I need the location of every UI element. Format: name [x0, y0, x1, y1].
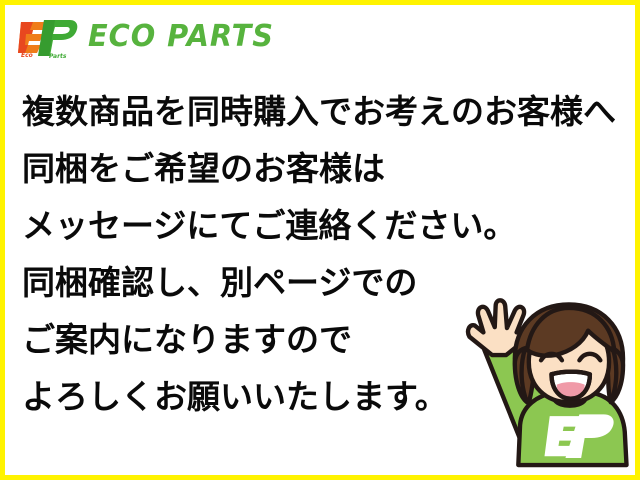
brand-header: Eco Parts ECO PARTS [18, 13, 282, 61]
logo-subtext-parts: Parts [49, 53, 67, 59]
eco-parts-notice-banner: Eco Parts ECO PARTS 複数商品を同時購入でお考えのお客様へ 同… [0, 0, 640, 480]
ep-monogram-logo-icon: Eco Parts [18, 15, 80, 59]
brand-wordmark: ECO PARTS [88, 22, 274, 52]
message-line: メッセージにてご連絡ください。 [22, 197, 622, 254]
waving-girl-illustration-icon [457, 294, 632, 472]
message-line: 複数商品を同時購入でお考えのお客様へ [22, 83, 622, 140]
message-line: 同梱をご希望のお客様は [22, 140, 622, 197]
logo-subtext-eco: Eco [21, 52, 33, 59]
